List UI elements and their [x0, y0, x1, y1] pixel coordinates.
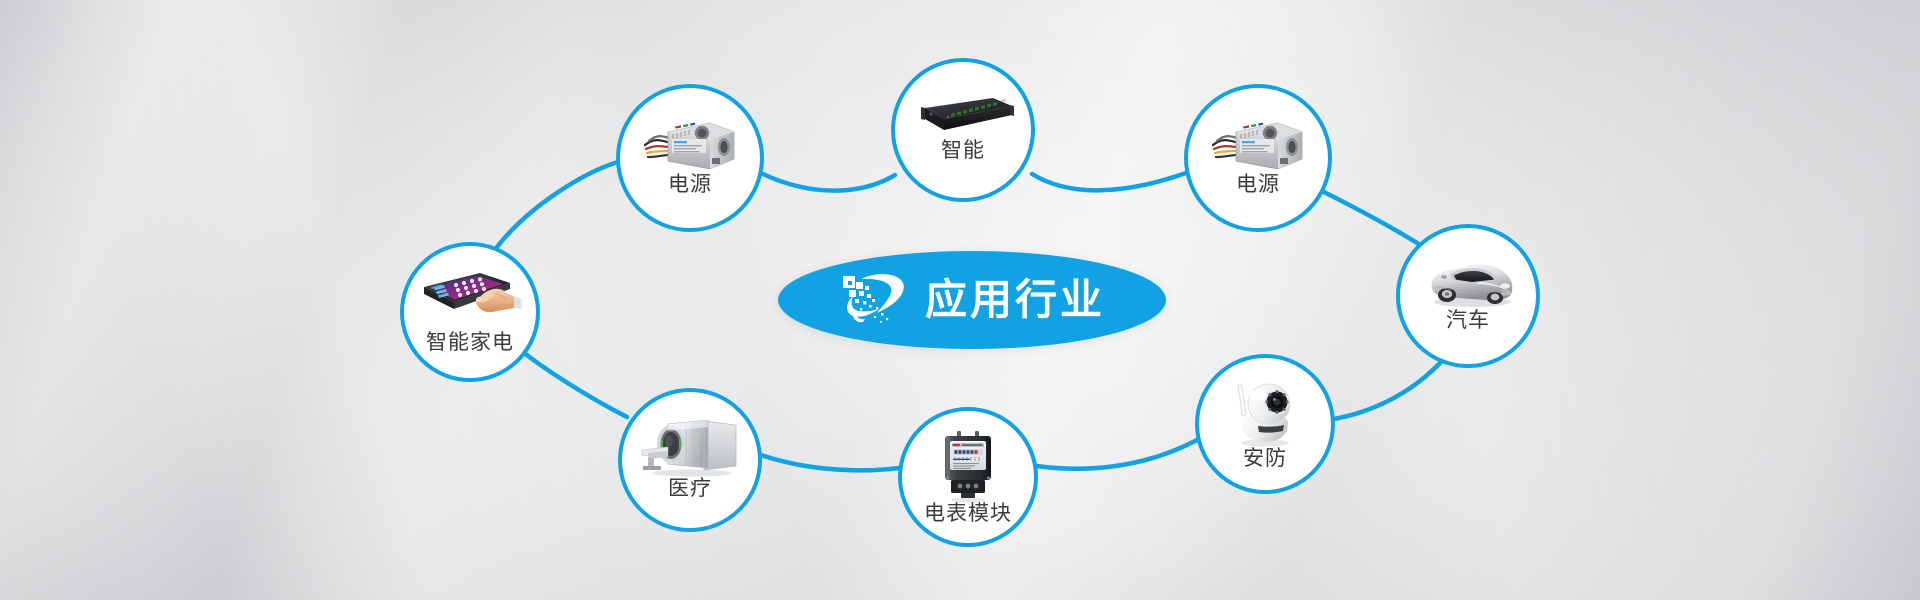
node-medical[interactable]: 医疗	[618, 388, 762, 532]
orbit-pixel-logo	[839, 269, 909, 331]
node-label: 电源	[1236, 174, 1280, 195]
node-label: 汽车	[1446, 310, 1490, 331]
rackmount-server-icon	[895, 92, 1031, 140]
node-label: 安防	[1243, 448, 1287, 469]
ip-camera-icon	[1199, 378, 1331, 448]
node-label: 智能	[941, 140, 985, 161]
node-automotive[interactable]: 汽车	[1396, 224, 1540, 368]
node-meter-module[interactable]: 电表模块	[898, 407, 1038, 547]
node-security[interactable]: 安防	[1195, 354, 1335, 494]
node-smart[interactable]: 智能	[891, 58, 1035, 202]
ct-scanner-icon	[622, 416, 758, 478]
connector-power-right-automotive	[1320, 190, 1425, 248]
atx-power-supply-icon	[620, 114, 760, 174]
connector-smarthome-power-left	[497, 162, 618, 247]
node-smart-home[interactable]: 智能家电	[400, 242, 540, 382]
node-power-left[interactable]: 电源	[616, 84, 764, 232]
node-label: 电表模块	[924, 503, 1012, 524]
connector-security-meter	[1037, 440, 1197, 469]
connector-automotive-security	[1334, 363, 1440, 419]
node-label: 智能家电	[426, 332, 514, 353]
sports-car-icon	[1400, 254, 1536, 310]
tablet-touch-icon	[404, 268, 536, 332]
node-power-right[interactable]: 电源	[1184, 84, 1332, 232]
badge-title: 应用行业	[925, 279, 1105, 321]
electricity-meter-icon	[902, 429, 1034, 503]
node-label: 医疗	[668, 478, 712, 499]
application-industries-banner: 电源	[0, 0, 1920, 600]
connector-power-left-smart	[763, 174, 895, 191]
connector-smart-power-right	[1032, 173, 1186, 190]
node-label: 电源	[668, 174, 712, 195]
atx-power-supply-icon	[1188, 114, 1328, 174]
center-badge: 应用行业	[778, 251, 1166, 349]
connector-meter-medical	[761, 455, 899, 470]
